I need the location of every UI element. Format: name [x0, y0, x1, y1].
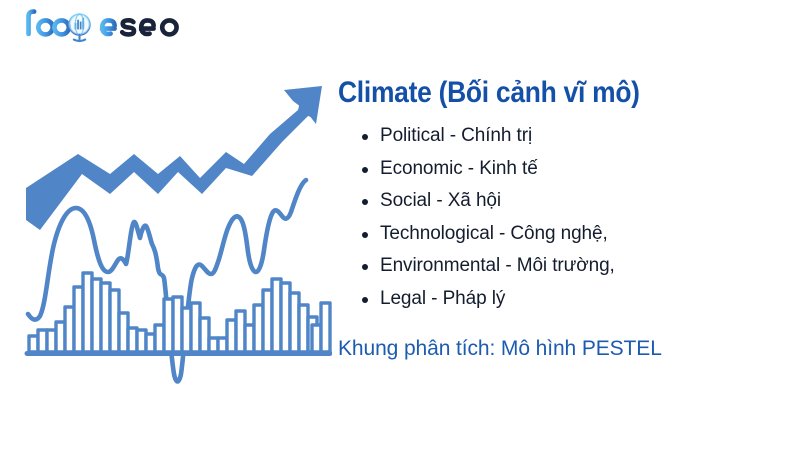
list-item: Economic - Kinh tế: [338, 153, 790, 186]
list-item: Environmental - Môi trường,: [338, 250, 790, 283]
list-item-label: Economic - Kinh tế: [380, 158, 538, 179]
list-item-label: Environmental - Môi trường,: [380, 255, 615, 276]
list-item-label: Technological - Công nghệ,: [380, 223, 608, 244]
list-item: Social - Xã hội: [338, 185, 790, 218]
content-panel: Climate (Bối cảnh vĩ mô) Political - Chí…: [338, 76, 790, 362]
brand-logo[interactable]: [14, 4, 189, 44]
logo-text-foo: [24, 12, 69, 35]
list-item-label: Legal - Pháp lý: [380, 288, 505, 309]
framework-caption: Khung phân tích: Mô hình PESTEL: [338, 336, 790, 362]
bullet-dot-icon: [362, 232, 368, 238]
growth-chart-illustration: [12, 72, 332, 392]
bullet-dot-icon: [362, 199, 368, 205]
bullet-dot-icon: [362, 134, 368, 140]
list-item: Legal - Pháp lý: [338, 283, 790, 316]
histogram-bars: [29, 273, 330, 352]
bullet-dot-icon: [362, 297, 368, 303]
bullet-dot-icon: [362, 167, 368, 173]
globe-chart-icon: [69, 14, 89, 41]
logo-text-seo: [122, 20, 176, 34]
pestel-list: Political - Chính trị Economic - Kinh tế…: [338, 120, 790, 315]
page-title: Climate (Bối cảnh vĩ mô): [338, 76, 736, 110]
bullet-dot-icon: [362, 264, 368, 270]
list-item: Political - Chính trị: [338, 120, 790, 153]
list-item-label: Social - Xã hội: [380, 190, 501, 211]
list-item: Technological - Công nghệ,: [338, 218, 790, 251]
list-item-label: Political - Chính trị: [380, 125, 532, 146]
logo-text-le: [95, 11, 115, 34]
